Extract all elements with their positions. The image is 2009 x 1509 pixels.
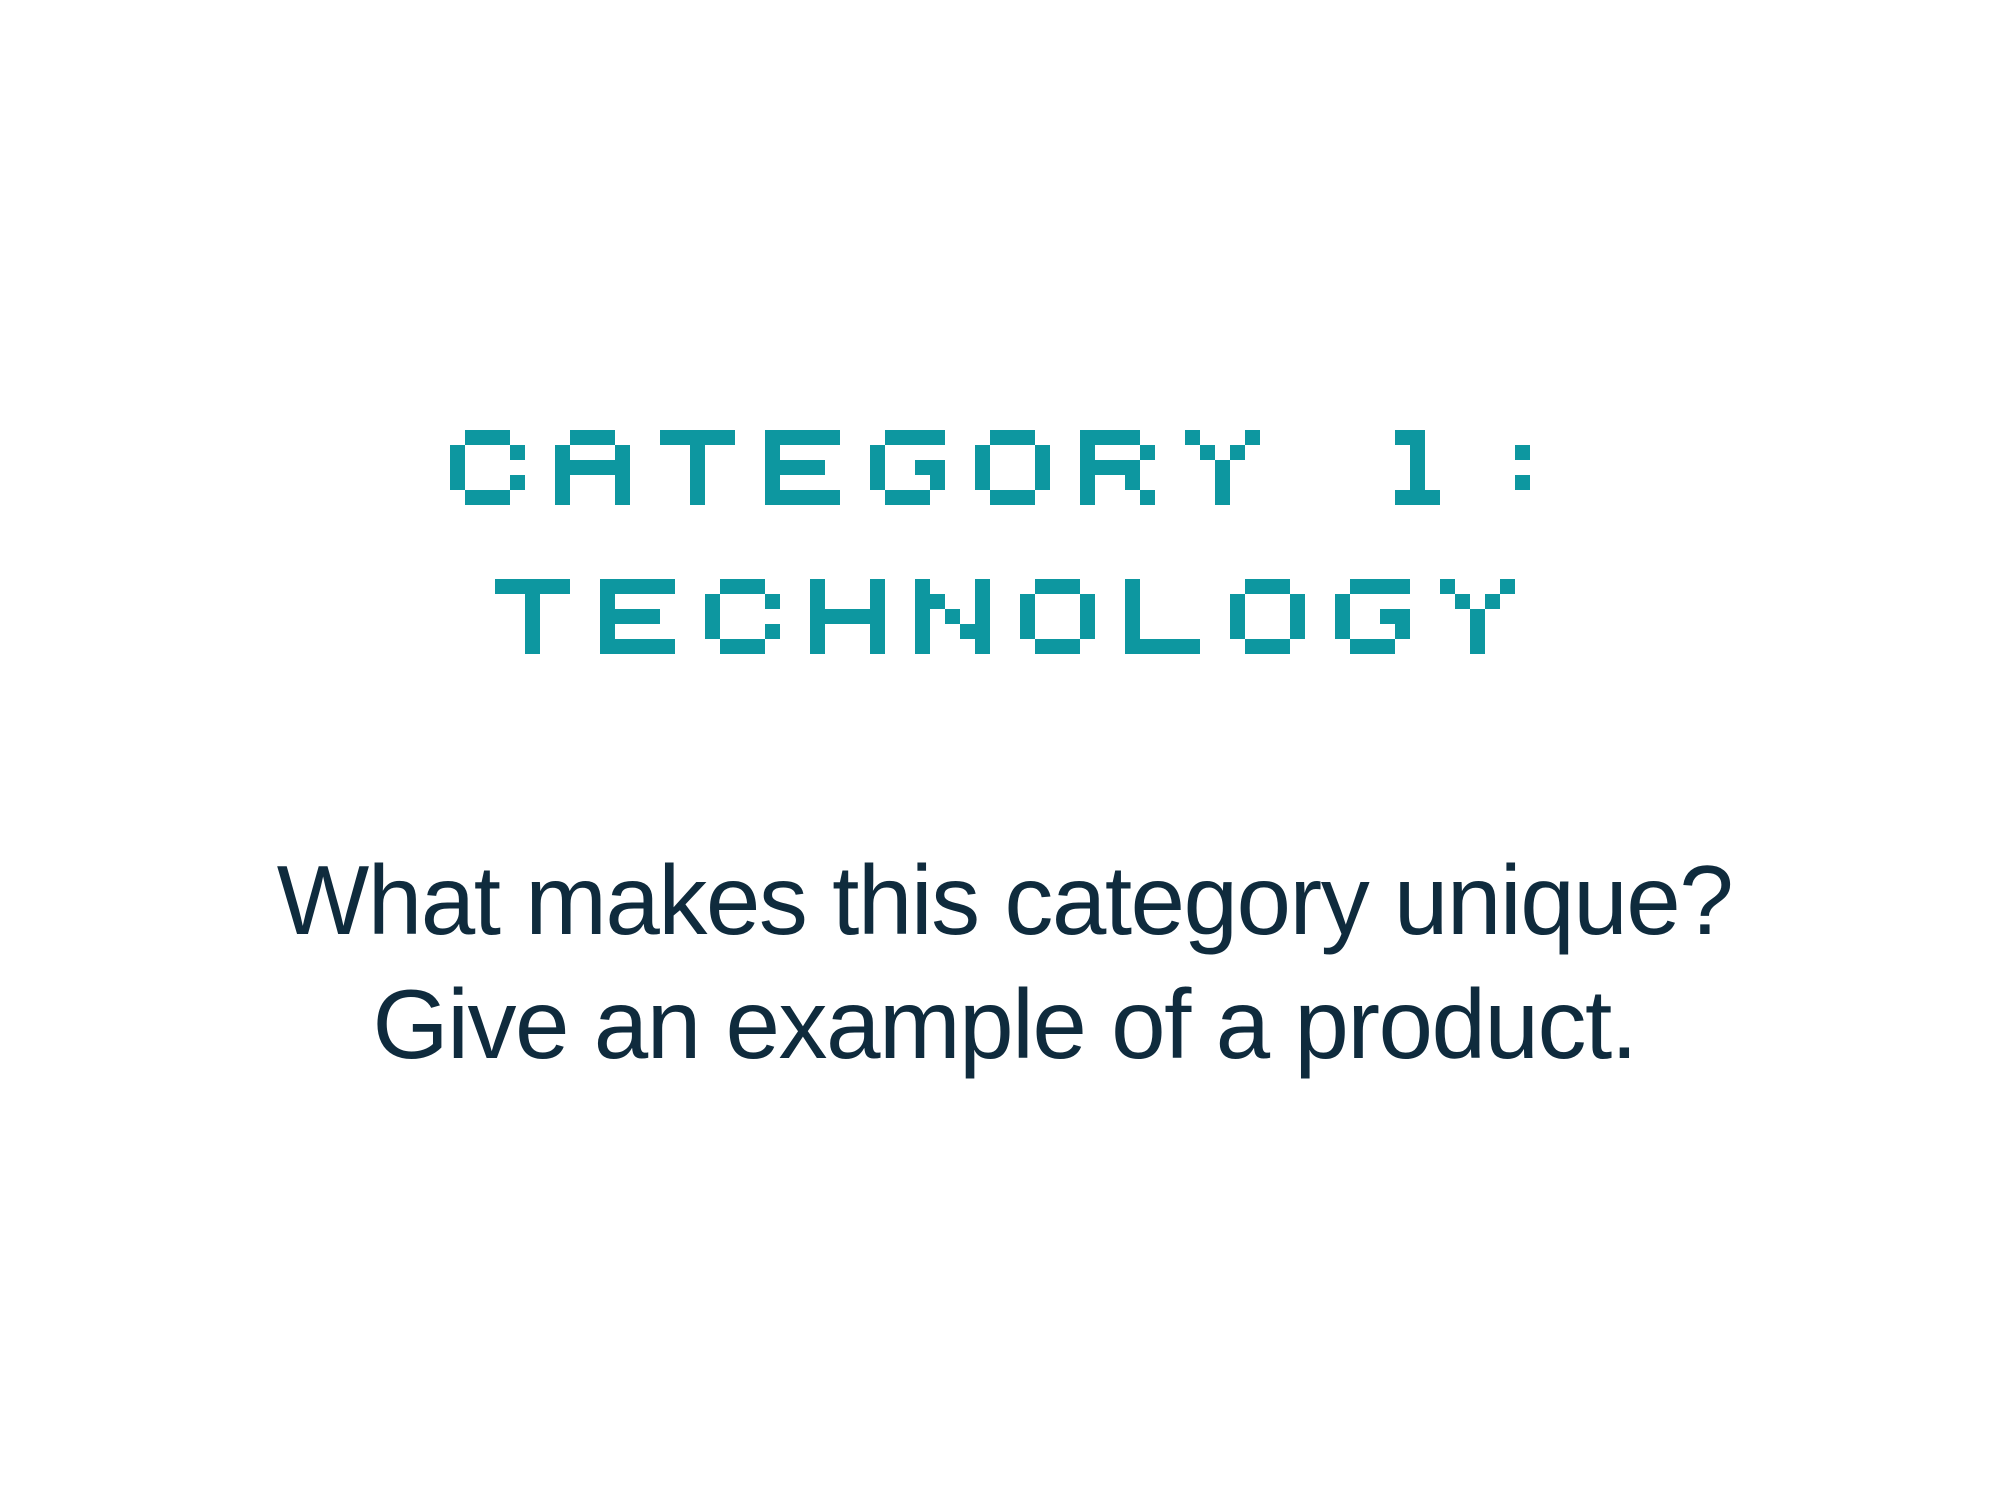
prompt-line-1: What makes this category unique? xyxy=(0,838,2009,962)
slide-canvas: What makes this category unique? Give an… xyxy=(0,0,2009,1509)
heading-line-2 xyxy=(495,579,1515,654)
category-heading xyxy=(0,430,2009,654)
prompt-body: What makes this category unique? Give an… xyxy=(0,838,2009,1086)
heading-line-1 xyxy=(450,430,1560,505)
prompt-line-2: Give an example of a product. xyxy=(0,962,2009,1086)
